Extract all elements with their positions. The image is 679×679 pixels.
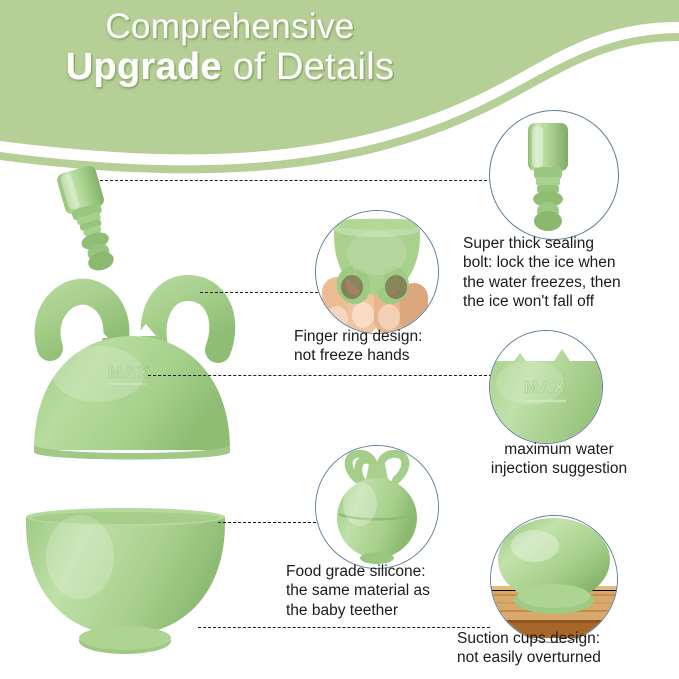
sealing-bolt-photo [490, 111, 618, 239]
max-marking-photo: MAX [490, 331, 602, 443]
title-line-1: Comprehensive [0, 8, 460, 46]
connector-suction-cups [198, 627, 490, 628]
caption-finger-ring: Finger ring design: not freeze hands [294, 327, 494, 366]
callout-circle-sealing-bolt [489, 110, 619, 240]
caption-sealing-bolt: Super thick sealing bolt: lock the ice w… [463, 234, 673, 312]
callout-circle-finger-ring [315, 210, 439, 334]
product-bowl [18, 495, 233, 655]
title-rest: of Details [222, 46, 394, 88]
connector-food-grade [218, 522, 316, 523]
infographic-page: Comprehensive Upgrade of Details [0, 0, 679, 679]
connector-finger-ring [200, 292, 318, 293]
connector-max-line [148, 375, 492, 376]
title-line-2: Upgrade of Details [0, 47, 460, 88]
callout-circle-max-line: MAX [489, 330, 603, 444]
page-title: Comprehensive Upgrade of Details [0, 8, 460, 88]
title-word-upgrade: Upgrade [66, 46, 222, 88]
caption-suction-cups: Suction cups design: not easily overturn… [457, 629, 672, 668]
bowl-svg [18, 495, 233, 655]
hand-holding-lid-photo [316, 211, 438, 333]
assembled-ice-ball-maker-photo [316, 446, 438, 568]
callout-circle-suction-cups [490, 515, 618, 643]
suction-cup-on-wood-photo [491, 516, 617, 642]
product-lid-assembly: MAX [20, 160, 250, 460]
callout-circle-food-grade [315, 445, 439, 569]
caption-max-line: maximum water injection suggestion [446, 440, 672, 479]
connector-sealing-bolt [100, 180, 492, 181]
caption-food-grade: Food grade silicone: the same material a… [286, 562, 496, 620]
lid-assembly-svg: MAX [20, 160, 250, 460]
